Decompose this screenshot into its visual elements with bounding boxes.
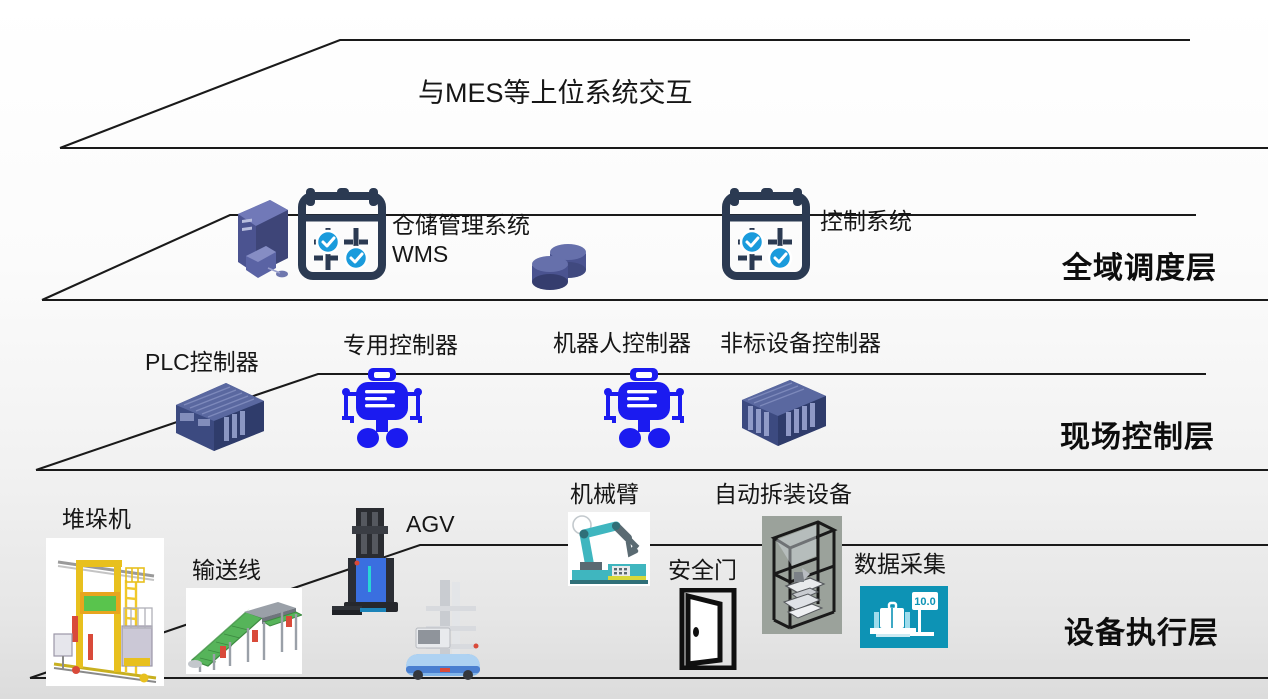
conveyor-line-icon: [186, 588, 302, 674]
scale-reading: 10.0: [914, 596, 935, 608]
control-system-label: 控制系统: [820, 208, 912, 235]
nonstandard-controller-label: 非标设备控制器: [720, 330, 881, 357]
nonstandard-controller-icon: [736, 372, 832, 450]
safety-door-icon: [678, 588, 738, 670]
mes-interaction-label: 与MES等上位系统交互: [418, 78, 693, 110]
server-icon: [228, 196, 300, 284]
auto-assembly-label: 自动拆装设备: [714, 481, 852, 508]
database-icon: [528, 238, 590, 294]
stacker-crane-label: 堆垛机: [62, 506, 131, 533]
plc-controller-icon: [168, 375, 272, 455]
robot-arm-label: 机械臂: [570, 481, 639, 508]
wms-sublabel: WMS: [392, 240, 530, 269]
wms-label: 仓储管理系统: [392, 211, 530, 240]
wms-label-group: 仓储管理系统 WMS: [392, 211, 530, 269]
safety-door-label: 安全门: [668, 557, 737, 584]
agv-label: AGV: [406, 511, 455, 538]
robot-controller-label: 机器人控制器: [553, 330, 691, 357]
agv-shelf-icon: [388, 576, 484, 680]
layer-title-control: 现场控制层: [1060, 412, 1215, 456]
layer-title-schedule: 全域调度层: [1062, 243, 1217, 287]
robot-arm-icon: [568, 512, 650, 586]
plc-controller-label: PLC控制器: [145, 349, 259, 376]
architecture-diagram: 与MES等上位系统交互 全域调度层 现场控制层 设备执行层: [0, 0, 1268, 699]
auto-assembly-icon: [762, 516, 842, 634]
layer-title-execution: 设备执行层: [1064, 608, 1219, 652]
wms-icon: [298, 184, 386, 282]
data-collection-label: 数据采集: [854, 551, 946, 578]
robot-controller-icon: [602, 364, 686, 450]
conveyor-line-label: 输送线: [192, 557, 261, 584]
stacker-crane-icon: [46, 538, 164, 686]
data-collection-icon: 10.0: [860, 586, 948, 648]
dedicated-controller-label: 专用控制器: [343, 332, 458, 359]
dedicated-controller-icon: [340, 364, 424, 450]
control-system-icon: [722, 184, 810, 282]
